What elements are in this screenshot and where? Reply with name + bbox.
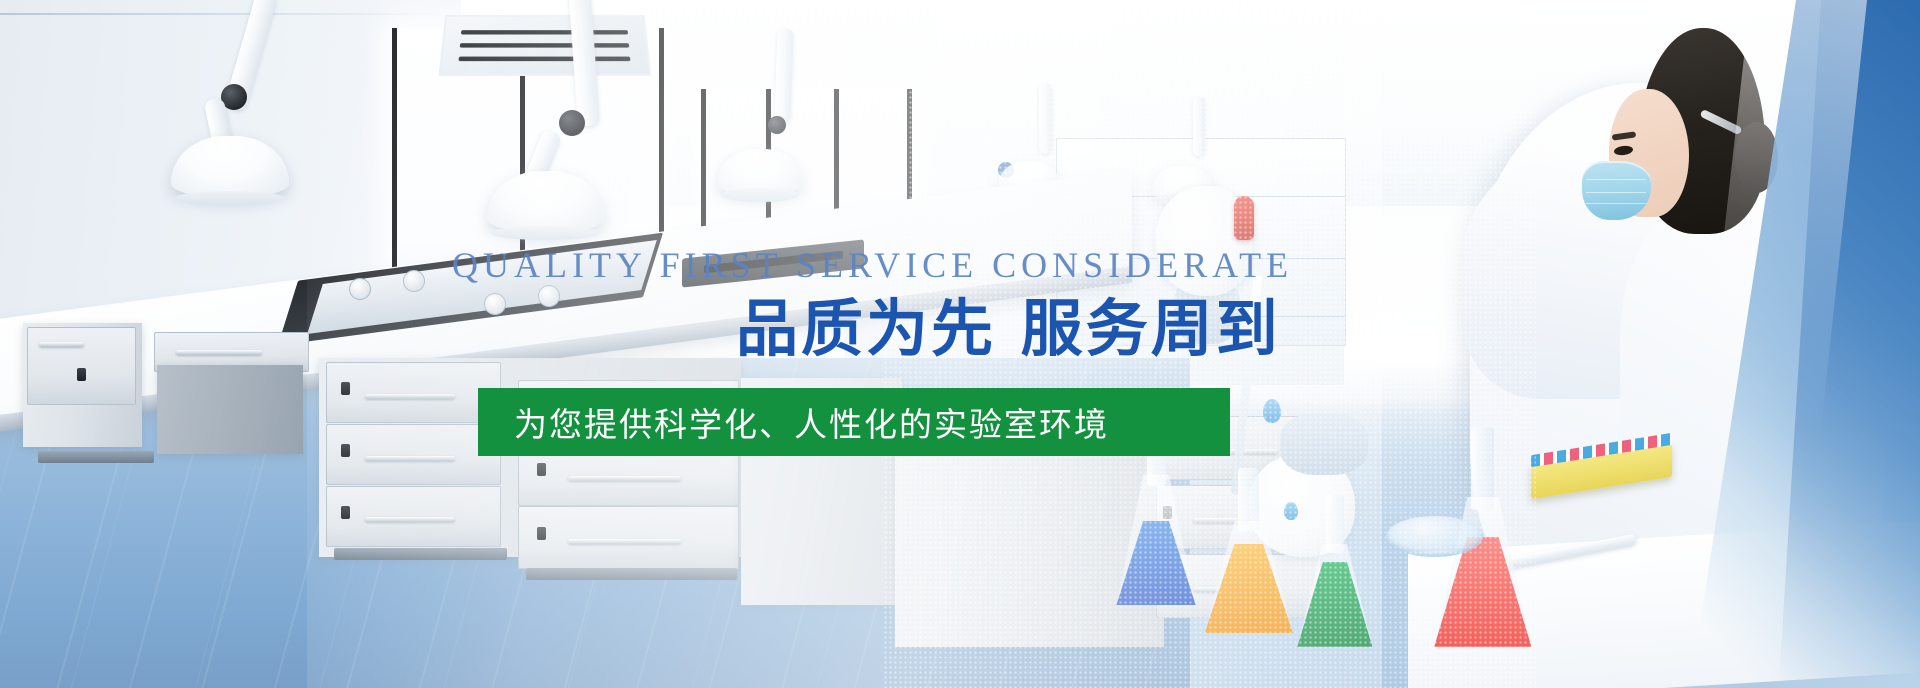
banner-copy-block: QUALITY FIRST SERVICE CONSIDERATE 品质为先 服…	[0, 0, 1920, 688]
banner-eyebrow-tagline: QUALITY FIRST SERVICE CONSIDERATE	[452, 247, 1293, 283]
banner-headline: 品质为先 服务周到	[736, 296, 1281, 361]
banner-subtitle-bar: 为您提供科学化、人性化的实验室环境	[478, 388, 1230, 456]
banner-subtitle-text: 为您提供科学化、人性化的实验室环境	[478, 398, 1109, 446]
laboratory-hero-banner: QUALITY FIRST SERVICE CONSIDERATE 品质为先 服…	[0, 0, 1920, 688]
